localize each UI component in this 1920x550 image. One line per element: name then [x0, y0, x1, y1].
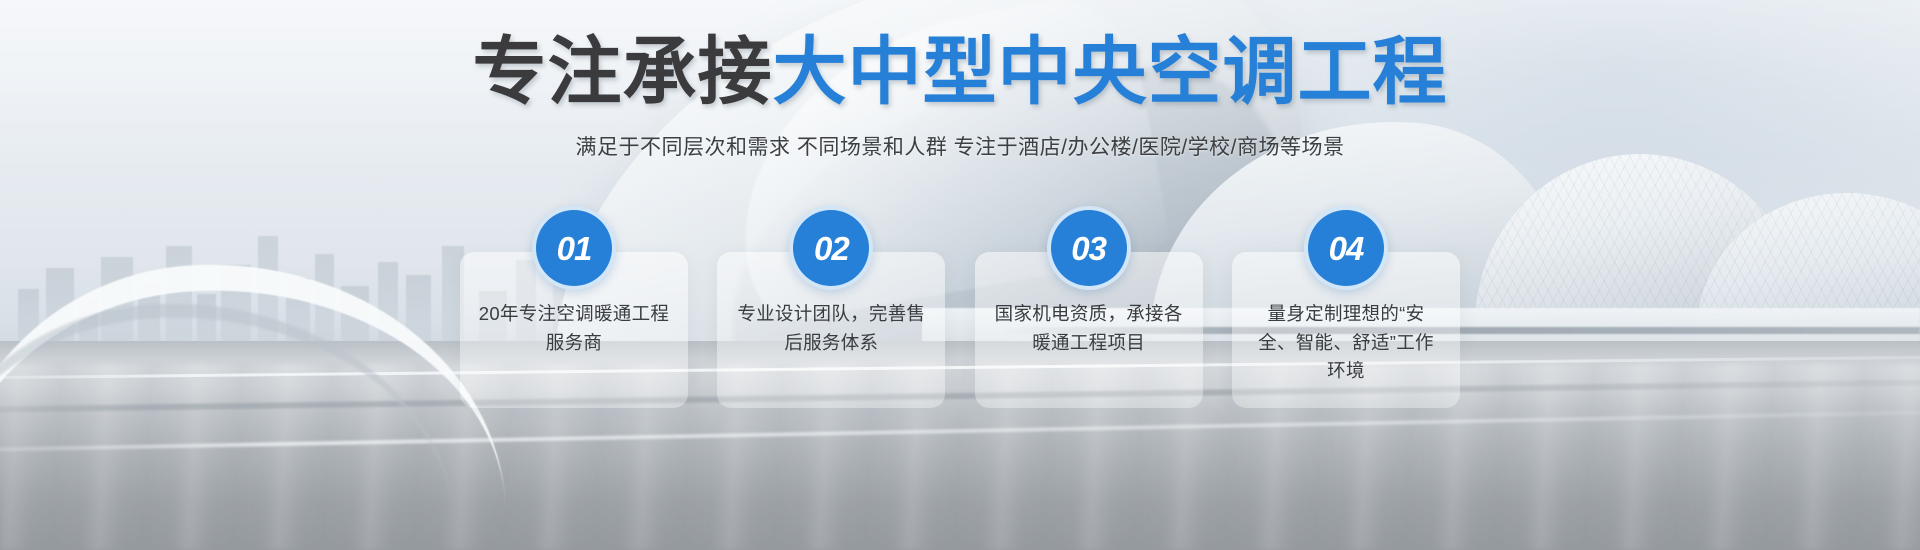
page-title: 专注承接大中型中央空调工程 — [0, 34, 1920, 111]
page-title-blue-part: 大中型中央空调工程 — [773, 30, 1448, 113]
page-title-dark-part: 专注承接 — [473, 30, 773, 113]
card-description: 20年专注空调暖通工程服务商 — [478, 300, 670, 357]
feature-card[interactable]: 04 量身定制理想的“安全、智能、舒适”工作环境 — [1232, 252, 1460, 408]
page-subtitle: 满足于不同层次和需求 不同场景和人群 专注于酒店/办公楼/医院/学校/商场等场景 — [0, 131, 1920, 161]
hero-banner: 专注承接大中型中央空调工程 满足于不同层次和需求 不同场景和人群 专注于酒店/办… — [0, 0, 1920, 550]
card-number-badge: 01 — [532, 206, 616, 290]
feature-card[interactable]: 01 20年专注空调暖通工程服务商 — [460, 252, 688, 408]
feature-card[interactable]: 03 国家机电资质，承接各暖通工程项目 — [975, 252, 1203, 408]
feature-card-list: 01 20年专注空调暖通工程服务商 02 专业设计团队，完善售后服务体系 03 … — [460, 252, 1460, 408]
card-description: 国家机电资质，承接各暖通工程项目 — [993, 300, 1185, 357]
card-number-badge: 03 — [1047, 206, 1131, 290]
card-number-badge: 02 — [789, 206, 873, 290]
feature-card[interactable]: 02 专业设计团队，完善售后服务体系 — [717, 252, 945, 408]
card-number: 01 — [557, 232, 592, 265]
card-number-badge: 04 — [1304, 206, 1388, 290]
card-description: 专业设计团队，完善售后服务体系 — [735, 300, 927, 357]
card-description: 量身定制理想的“安全、智能、舒适”工作环境 — [1250, 300, 1442, 386]
card-number: 04 — [1329, 232, 1364, 265]
headline-block: 专注承接大中型中央空调工程 满足于不同层次和需求 不同场景和人群 专注于酒店/办… — [0, 34, 1920, 161]
card-number: 02 — [814, 232, 849, 265]
card-number: 03 — [1071, 232, 1106, 265]
